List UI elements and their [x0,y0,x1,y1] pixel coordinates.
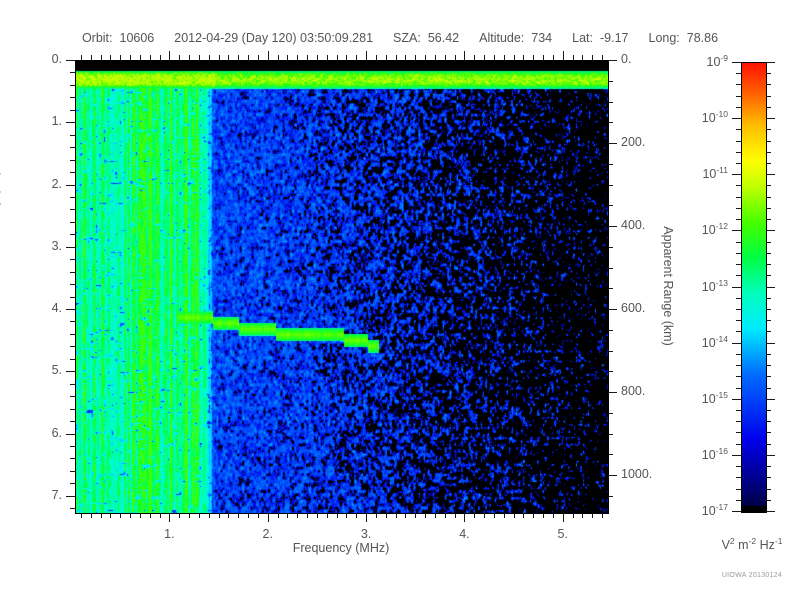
colorbar-tick [736,84,741,85]
colorbar-tick [732,118,741,119]
colorbar-tick-base: 10 [702,504,716,518]
y-left-tick-label-4: 4. [52,301,62,315]
colorbar-tick [766,152,771,153]
axis-tick [70,222,75,223]
axis-tick [70,359,75,360]
y-right-tick-label-2: 400. [621,218,645,232]
axis-tick [553,513,554,518]
colorbar-tick [766,388,771,389]
axis-tick [608,60,617,61]
colorbar-tick-label-3: 10-12 [702,221,728,237]
colorbar-tick [766,287,775,288]
colorbar-tick-exponent: -9 [720,53,728,63]
axis-tick [91,55,92,60]
axis-tick [189,55,190,60]
long-key: Long: [649,31,680,45]
axis-tick [608,496,613,497]
colorbar-tick [732,511,741,512]
colorbar-tick [766,365,771,366]
colorbar-tick [766,73,771,74]
axis-tick [70,334,75,335]
axis-tick [376,513,377,518]
colorbar-tick [766,129,771,130]
axis-tick [366,51,367,60]
axis-tick [327,55,328,60]
y-axis-right-label: Apparent Range (km) [661,201,675,371]
y-right-tick-label-1: 200. [621,135,645,149]
y-left-tick-label-5: 5. [52,363,62,377]
axis-tick [582,55,583,60]
axis-tick [66,247,75,248]
axis-tick [70,160,75,161]
colorbar-tick [766,432,771,433]
altitude-value: 734 [531,31,552,45]
colorbar-tick [732,62,741,63]
x-axis-label: Frequency (MHz) [75,541,607,555]
axis-tick [160,55,161,60]
colorbar-tick [736,298,741,299]
axis-tick [317,55,318,60]
colorbar-tick [736,141,741,142]
axis-tick [445,513,446,518]
colorbar-tick-exponent: -13 [716,278,728,288]
colorbar-tick [766,477,771,478]
colorbar-tick [766,399,775,400]
axis-tick [608,143,617,144]
colorbar-tick [766,141,771,142]
axis-tick [608,454,613,455]
axis-tick [396,55,397,60]
axis-tick [120,55,121,60]
datetime-value: 2012-04-29 (Day 120) 03:50:09.281 [174,31,373,45]
lat-value: -9.17 [600,31,629,45]
colorbar-tick-base: 10 [702,111,716,125]
axis-tick [455,513,456,518]
axis-tick [337,55,338,60]
x-tick-label-3: 4. [459,527,469,541]
y-axis-left-label: Time Delay (ms) [0,136,1,296]
colorbar-tick [736,129,741,130]
colorbar-tick-exponent: -12 [716,221,728,231]
colorbar-tick [766,118,775,119]
axis-tick [228,513,229,518]
axis-tick [70,197,75,198]
axis-tick [608,351,613,352]
axis-tick [608,288,613,289]
axis-tick [504,513,505,518]
colorbar-tick [736,477,741,478]
colorbar-tick [736,197,741,198]
colorbar-tick-label-7: 10-16 [702,446,728,462]
colorbar-tick [736,264,741,265]
y-left-tick-label-3: 3. [52,239,62,253]
unit-hz: Hz [760,538,775,552]
axis-tick [120,513,121,518]
axis-tick [258,513,259,518]
colorbar-unit-label: V2 m-2 Hz-1 [700,536,800,552]
axis-tick [66,434,75,435]
y-left-tick-label-2: 2. [52,177,62,191]
axis-tick [70,284,75,285]
colorbar-tick [766,185,771,186]
axis-tick [553,55,554,60]
x-tick-label-0: 1. [164,527,174,541]
axis-tick [238,55,239,60]
colorbar-tick-exponent: -16 [716,446,728,456]
colorbar-tick [766,331,771,332]
colorbar-tick [766,354,771,355]
axis-tick [70,421,75,422]
axis-tick [81,513,82,518]
axis-tick [169,51,170,60]
colorbar-tick [766,230,775,231]
colorbar-tick [736,388,741,389]
axis-tick [608,392,617,393]
axis-tick [150,55,151,60]
colorbar-tick [736,242,741,243]
colorbar-tick [736,365,741,366]
colorbar-tick-label-1: 10-10 [702,109,728,125]
axis-tick [543,55,544,60]
y-right-tick-label-3: 600. [621,301,645,315]
axis-tick [70,321,75,322]
axis-tick [484,513,485,518]
colorbar-tick [736,320,741,321]
y-right-tick-label-0: 0. [621,52,631,66]
axis-tick [523,513,524,518]
axis-tick [70,396,75,397]
axis-tick [608,413,613,414]
colorbar-tick [732,230,741,231]
colorbar-tick-base: 10 [702,224,716,238]
colorbar-tick-exponent: -11 [716,165,728,175]
axis-tick [543,513,544,518]
axis-tick [608,268,613,269]
axis-tick [425,55,426,60]
colorbar-tick [732,287,741,288]
axis-tick [602,55,603,60]
colorbar-tick-base: 10 [707,55,721,69]
axis-tick [91,513,92,518]
axis-tick [238,513,239,518]
axis-tick [386,513,387,518]
axis-tick [70,272,75,273]
colorbar-tick [736,466,741,467]
axis-tick [608,205,613,206]
colorbar-tick [766,242,771,243]
axis-tick [396,513,397,518]
unit-v-exponent: 2 [730,536,735,546]
colorbar-tick [736,489,741,490]
axis-tick [199,513,200,518]
colorbar-tick [736,444,741,445]
axis-tick [563,513,564,522]
ionogram-figure: Orbit:106062012-04-29 (Day 120) 03:50:09… [0,0,800,600]
axis-tick [70,234,75,235]
colorbar-tick [766,298,771,299]
colorbar-tick [766,410,771,411]
unit-m-exponent: -2 [749,536,757,546]
axis-tick [70,471,75,472]
unit-hz-exponent: -1 [775,536,783,546]
axis-tick [209,513,210,518]
axis-tick [70,446,75,447]
axis-tick [608,475,617,476]
colorbar-tick [732,455,741,456]
colorbar-tick [732,174,741,175]
axis-tick [66,496,75,497]
colorbar-tick-label-5: 10-14 [702,334,728,350]
axis-tick [101,55,102,60]
axis-tick [248,55,249,60]
axis-tick [514,55,515,60]
axis-tick [66,371,75,372]
colorbar-tick [736,107,741,108]
colorbar-tick-label-2: 10-11 [702,165,728,181]
colorbar-tick [766,421,771,422]
axis-tick [258,55,259,60]
axis-tick [179,513,180,518]
colorbar-tick [736,96,741,97]
axis-tick [533,513,534,518]
sza-key: SZA: [393,31,421,45]
axis-tick [248,513,249,518]
axis-tick [356,513,357,518]
colorbar-tick [766,253,771,254]
axis-tick [287,513,288,518]
colorbar-tick [766,376,771,377]
unit-m: m [738,538,748,552]
y-right-tick-label-4: 800. [621,384,645,398]
colorbar-tick-exponent: -17 [716,502,728,512]
colorbar-tick [766,309,771,310]
axis-tick [533,55,534,60]
colorbar-tick [736,410,741,411]
axis-tick [405,513,406,518]
axis-tick [346,55,347,60]
axis-tick [130,55,131,60]
axis-tick [592,513,593,518]
axis-tick [582,513,583,518]
axis-tick [327,513,328,518]
axis-tick [70,172,75,173]
colorbar-tick-exponent: -14 [716,334,728,344]
axis-tick [140,55,141,60]
axis-tick [287,55,288,60]
colorbar-tick [766,500,771,501]
axis-tick [169,513,170,522]
colorbar-tick [736,331,741,332]
colorbar-tick [736,253,741,254]
axis-tick [445,55,446,60]
axis-tick [494,513,495,518]
colorbar-tick [766,163,771,164]
axis-tick [484,55,485,60]
unit-v: V [722,538,730,552]
sza-value: 56.42 [428,31,459,45]
axis-tick [608,330,613,331]
colorbar-tick-label-6: 10-15 [702,390,728,406]
colorbar-tick [736,73,741,74]
axis-tick [337,513,338,518]
axis-tick [425,513,426,518]
axis-tick [70,297,75,298]
axis-tick [415,513,416,518]
orbit-value: 10606 [120,31,155,45]
colorbar-tick [766,466,771,467]
colorbar-tick-base: 10 [702,280,716,294]
colorbar-tick [766,511,775,512]
axis-tick [297,513,298,518]
colorbar-tick [766,489,771,490]
axis-tick [602,513,603,518]
axis-tick [608,371,613,372]
y-right-tick-label-5: 1000. [621,467,652,481]
colorbar-tick-exponent: -10 [716,109,728,119]
axis-tick [366,513,367,522]
axis-tick [608,247,613,248]
y-left-tick-label-7: 7. [52,488,62,502]
axis-tick [66,122,75,123]
axis-tick [130,513,131,518]
axis-tick [228,55,229,60]
axis-tick [307,513,308,518]
y-left-tick-label-0: 0. [52,52,62,66]
axis-tick [474,55,475,60]
colorbar-tick [766,455,775,456]
axis-tick [376,55,377,60]
colorbar-tick [766,84,771,85]
colorbar-tick [766,96,771,97]
colorbar-tick-label-4: 10-13 [702,278,728,294]
lat-key: Lat: [572,31,593,45]
axis-tick [608,122,613,123]
radargram-canvas [76,61,608,513]
axis-tick [608,164,613,165]
axis-tick [199,55,200,60]
axis-tick [70,508,75,509]
axis-tick [504,55,505,60]
axis-tick [563,51,564,60]
axis-tick [474,513,475,518]
colorbar-tick [766,320,771,321]
axis-tick [573,55,574,60]
orbit-key: Orbit: [82,31,113,45]
colorbar-tick [766,444,771,445]
colorbar-tick [736,421,741,422]
axis-tick [494,55,495,60]
y-left-tick-label-1: 1. [52,114,62,128]
colorbar-tick [766,174,775,175]
colorbar-tick-base: 10 [702,392,716,406]
axis-tick [278,513,279,518]
axis-tick [70,147,75,148]
axis-tick [523,55,524,60]
colorbar-tick [766,264,771,265]
axis-tick [514,513,515,518]
colorbar-tick [766,275,771,276]
axis-tick [179,55,180,60]
axis-tick [81,55,82,60]
colorbar-tick [736,275,741,276]
axis-tick [268,513,269,522]
axis-tick [66,185,75,186]
axis-tick [386,55,387,60]
axis-tick [101,513,102,518]
axis-tick [297,55,298,60]
axis-tick [70,135,75,136]
colorbar-tick-base: 10 [702,336,716,350]
colorbar-tick [736,163,741,164]
axis-tick [307,55,308,60]
axis-tick [110,513,111,518]
axis-tick [464,513,465,522]
radargram-plot-area [75,60,609,514]
axis-tick [356,55,357,60]
axis-tick [608,102,613,103]
figure-header: Orbit:106062012-04-29 (Day 120) 03:50:09… [0,31,800,45]
colorbar-tick [766,208,771,209]
axis-tick [464,51,465,60]
colorbar-tick [766,107,771,108]
altitude-key: Altitude: [479,31,524,45]
axis-tick [70,259,75,260]
colorbar-tick [736,500,741,501]
axis-tick [608,434,613,435]
axis-tick [405,55,406,60]
colorbar-tick [736,152,741,153]
long-value: 78.86 [687,31,718,45]
axis-tick [66,309,75,310]
colorbar-tick [736,208,741,209]
colorbar-canvas [742,63,766,512]
axis-tick [189,513,190,518]
axis-tick [435,55,436,60]
axis-tick [70,458,75,459]
axis-tick [317,513,318,518]
colorbar [741,62,767,513]
x-tick-label-1: 2. [263,527,273,541]
axis-tick [608,309,617,310]
axis-tick [608,226,617,227]
axis-tick [66,60,75,61]
axis-tick [573,513,574,518]
colorbar-tick [736,432,741,433]
y-left-tick-label-6: 6. [52,426,62,440]
axis-tick [268,51,269,60]
colorbar-tick [736,376,741,377]
axis-tick [278,55,279,60]
axis-tick [70,85,75,86]
x-tick-label-2: 3. [361,527,371,541]
axis-tick [209,55,210,60]
colorbar-tick [766,219,771,220]
axis-tick [435,513,436,518]
axis-tick [219,513,220,518]
watermark-label: UIOWA 20130124 [700,572,800,579]
axis-tick [346,513,347,518]
axis-tick [110,55,111,60]
colorbar-tick [736,354,741,355]
colorbar-tick-base: 10 [702,167,716,181]
axis-tick [592,55,593,60]
x-tick-label-4: 5. [558,527,568,541]
axis-tick [140,513,141,518]
colorbar-tick [766,343,775,344]
axis-tick [150,513,151,518]
colorbar-tick [736,219,741,220]
colorbar-tick [736,309,741,310]
